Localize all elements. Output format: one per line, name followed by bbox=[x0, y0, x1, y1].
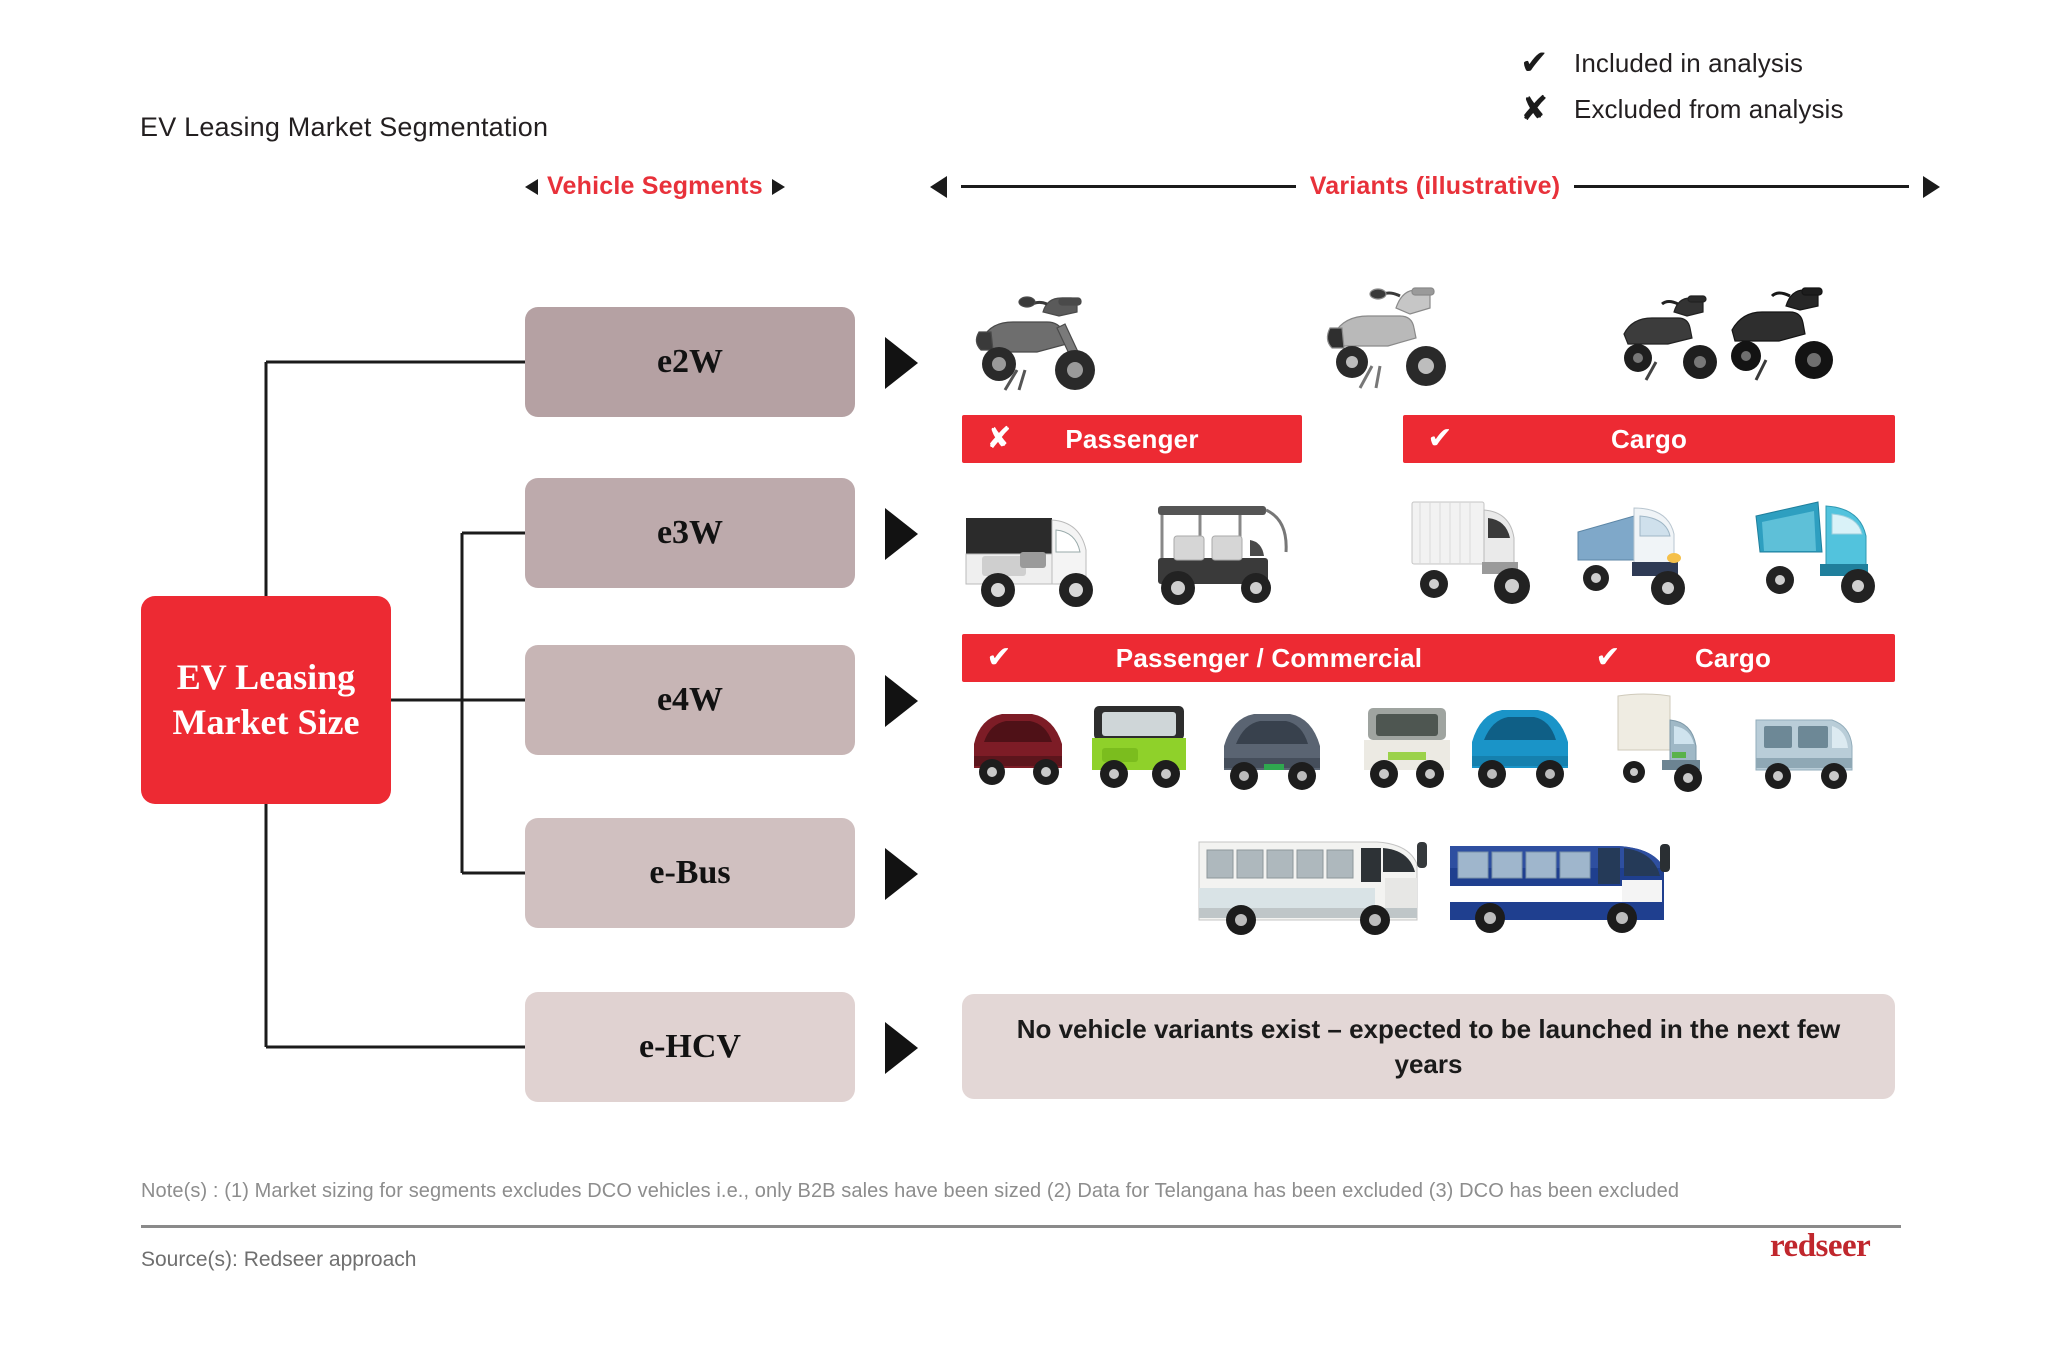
source-line: Source(s): Redseer approach bbox=[141, 1248, 416, 1272]
check-icon: ✔ bbox=[962, 643, 1036, 673]
hatchback-maroon-icon bbox=[958, 700, 1078, 792]
variant-bar-label-cargo: Cargo bbox=[1477, 424, 1895, 455]
e-rickshaw-icon bbox=[1140, 484, 1305, 614]
three-wheeler-box-cargo-icon bbox=[1400, 484, 1550, 616]
root-node-label: EV LeasingMarket Size bbox=[173, 655, 360, 745]
root-node-ev-leasing-market-size[interactable]: EV LeasingMarket Size bbox=[141, 596, 391, 804]
segment-box-e3w[interactable]: e3W bbox=[525, 478, 855, 588]
hcv-note-box: No vehicle variants exist – expected to … bbox=[962, 994, 1895, 1099]
suv-white-icon bbox=[1350, 694, 1462, 794]
segment-box-e2w[interactable]: e2W bbox=[525, 307, 855, 417]
city-bus-white-icon bbox=[1185, 812, 1440, 940]
segment-arrow-ebus-icon bbox=[885, 848, 918, 900]
city-bus-blue-icon bbox=[1440, 806, 1685, 940]
variant-bar-e3w-cargo[interactable]: ✔ Cargo bbox=[1571, 634, 1895, 682]
cross-icon: ✘ bbox=[962, 424, 1036, 454]
check-icon: ✔ bbox=[1571, 643, 1645, 673]
redseer-logo: redseer bbox=[1770, 1228, 1870, 1265]
three-wheeler-pickup-icon bbox=[1570, 480, 1730, 616]
segment-label-e4w: e4W bbox=[657, 681, 723, 719]
segment-label-ehcv: e-HCV bbox=[639, 1028, 741, 1066]
segment-arrow-e2w-icon bbox=[885, 337, 918, 389]
variant-bar-e2w-passenger[interactable]: ✘ Passenger bbox=[962, 415, 1302, 463]
three-wheeler-tipper-icon bbox=[1740, 476, 1905, 616]
segment-arrow-e3w-icon bbox=[885, 508, 918, 560]
variant-bar-label-passenger: Passenger bbox=[1036, 424, 1302, 455]
segment-label-e3w: e3W bbox=[657, 514, 723, 552]
check-icon: ✔ bbox=[1403, 424, 1477, 454]
segment-label-e2w: e2W bbox=[657, 343, 723, 381]
electric-scooter-light-icon bbox=[1320, 272, 1460, 397]
auto-rickshaw-white-icon bbox=[952, 490, 1122, 615]
segment-arrow-ehcv-icon bbox=[885, 1022, 918, 1074]
hcv-note-text: No vehicle variants exist – expected to … bbox=[1002, 1012, 1855, 1081]
hatchback-blue-icon bbox=[1458, 698, 1582, 794]
cargo-van-icon bbox=[1742, 700, 1866, 796]
suv-grey-icon bbox=[1210, 700, 1334, 796]
micro-car-green-icon bbox=[1080, 690, 1198, 794]
mini-truck-cargo-icon bbox=[1600, 686, 1720, 798]
variant-bar-label-passenger-commercial: Passenger / Commercial bbox=[1036, 643, 1576, 674]
segment-label-ebus: e-Bus bbox=[649, 854, 730, 892]
footnotes: Note(s) : (1) Market sizing for segments… bbox=[141, 1180, 1901, 1203]
electric-scooter-dark-icon bbox=[965, 278, 1115, 398]
variant-bar-e2w-cargo[interactable]: ✔ Cargo bbox=[1403, 415, 1895, 463]
segment-box-e4w[interactable]: e4W bbox=[525, 645, 855, 755]
segment-box-ebus[interactable]: e-Bus bbox=[525, 818, 855, 928]
segment-box-ehcv[interactable]: e-HCV bbox=[525, 992, 855, 1102]
footer-divider bbox=[141, 1225, 1901, 1228]
variant-bar-label-cargo-2: Cargo bbox=[1645, 643, 1895, 674]
electric-scooter-black-a-icon bbox=[1612, 282, 1730, 390]
electric-scooter-black-b-icon bbox=[1718, 272, 1846, 392]
variant-bar-e3w-passenger-commercial[interactable]: ✔ Passenger / Commercial bbox=[962, 634, 1576, 682]
segment-arrow-e4w-icon bbox=[885, 675, 918, 727]
